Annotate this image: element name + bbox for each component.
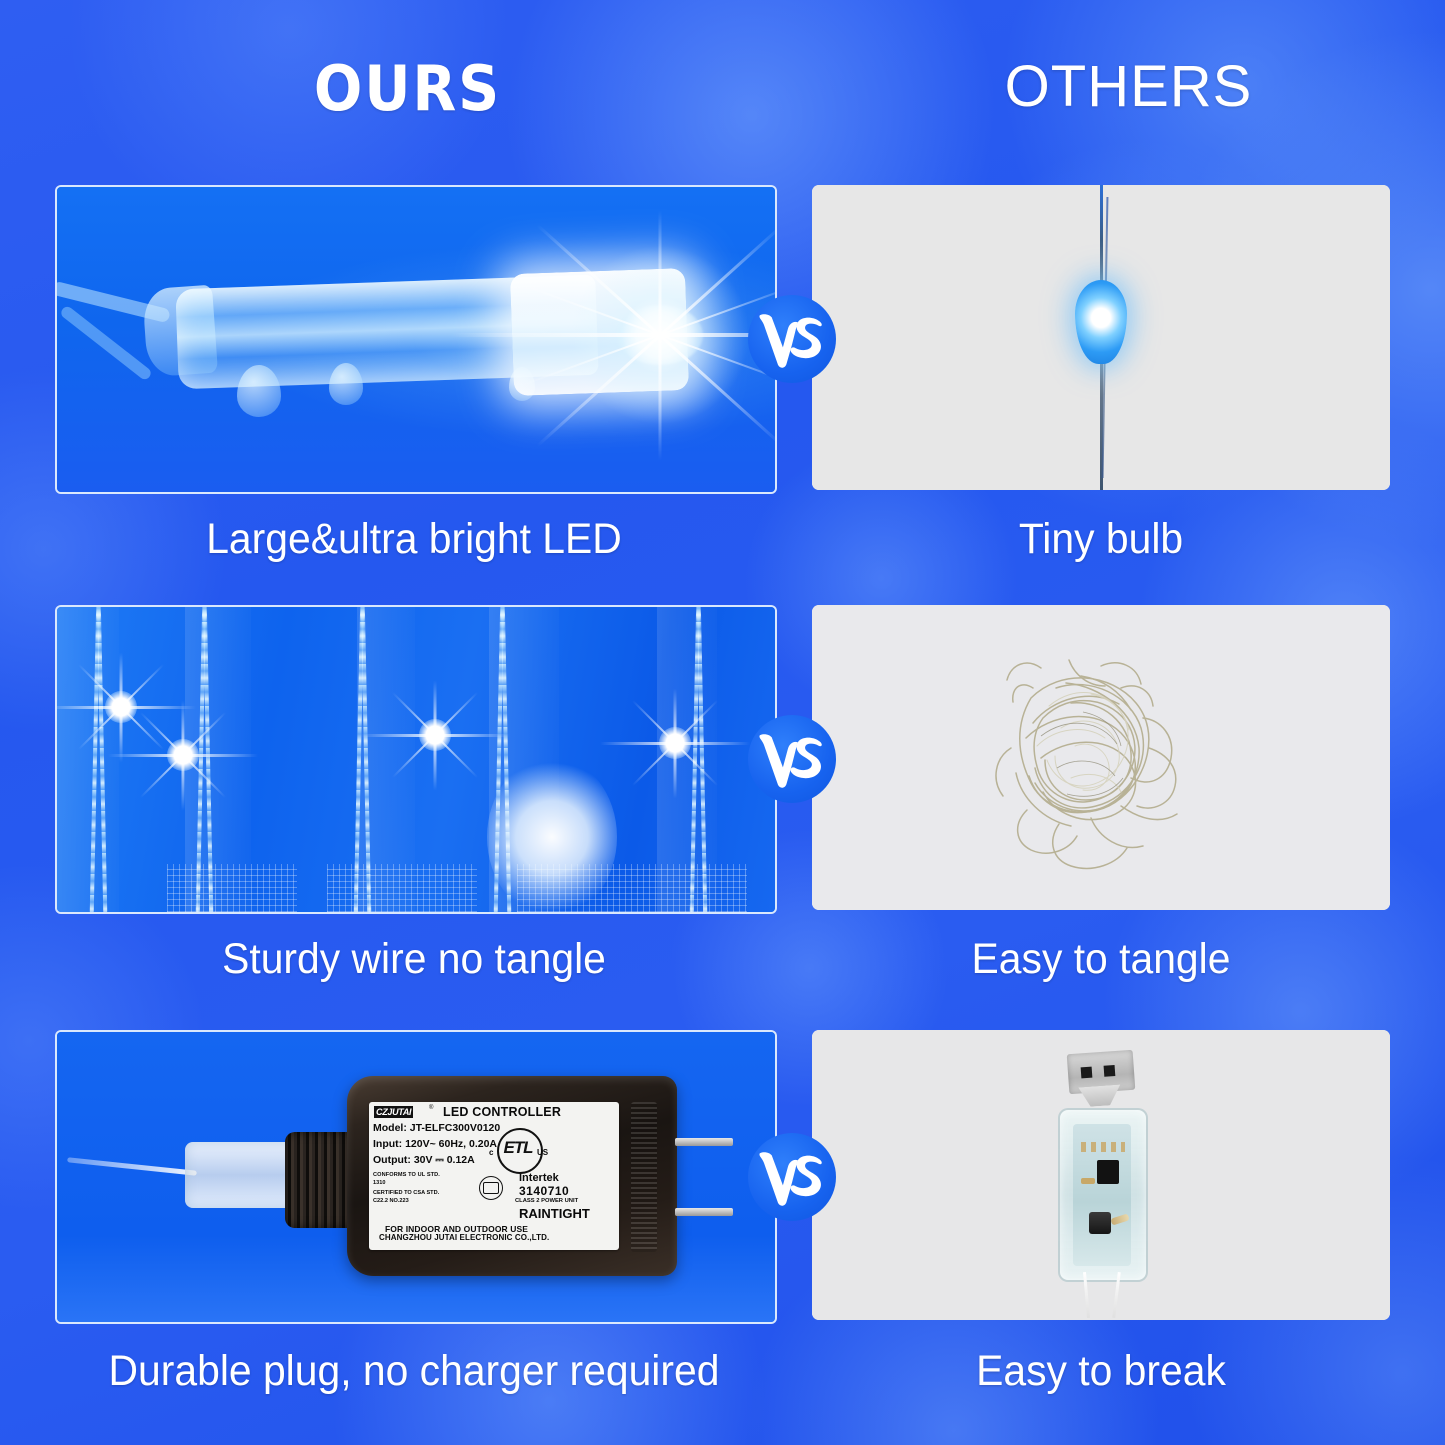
- photo-panel-others-tangle: [812, 605, 1390, 910]
- label-conforms-1: CONFORMS TO UL STD.: [373, 1172, 440, 1178]
- vs-badge-row-3: [748, 1133, 836, 1221]
- tangled-wire-photo: [812, 605, 1390, 910]
- caption-others-2: Easy to tangle: [826, 938, 1375, 981]
- plug-ridges: [631, 1102, 657, 1252]
- etl-text: ETL: [500, 1138, 536, 1158]
- caption-ours-1: Large&ultra bright LED: [21, 518, 808, 561]
- ic-chip: [1097, 1160, 1119, 1184]
- label-certified-2: C22.2 NO.223: [373, 1198, 409, 1204]
- label-class: CLASS 2 POWER UNIT: [515, 1198, 578, 1204]
- photo-panel-others-usb: [812, 1030, 1390, 1320]
- usb-circuit-board: [1073, 1124, 1131, 1266]
- light-strand-1: [93, 605, 107, 913]
- caption-others-3: Easy to break: [826, 1350, 1375, 1393]
- photo-panel-ours-plug: CZJUTAI ® LED CONTROLLER Model: JT-ELFC3…: [55, 1030, 777, 1324]
- vs-icon: [757, 1146, 827, 1208]
- vs-badge-row-1: [748, 295, 836, 383]
- photo-panel-ours-led: [55, 185, 777, 494]
- etl-us-text: US: [537, 1148, 548, 1157]
- etl-c-text: c: [489, 1148, 493, 1157]
- photo-panel-ours-curtain: [55, 605, 777, 914]
- page-title-ours: OURS: [33, 58, 783, 120]
- polarity-symbol-icon: [479, 1176, 503, 1200]
- curtain-mesh-2: [327, 864, 477, 912]
- caption-others-1: Tiny bulb: [826, 518, 1375, 561]
- label-registered: ®: [429, 1105, 433, 1111]
- curtain-string-lights-photo: [57, 607, 775, 912]
- usb-plug-neck: [1078, 1085, 1121, 1108]
- tiny-bulb-glow: [1075, 280, 1127, 364]
- vs-icon: [757, 728, 827, 790]
- label-output: Output: 30V ⎓ 0.12A: [373, 1154, 475, 1167]
- etl-mark-icon: ETL c US: [489, 1126, 545, 1172]
- label-input: Input: 120V~ 60Hz, 0.20A: [373, 1138, 497, 1150]
- broken-usb-controller-photo: [812, 1030, 1390, 1320]
- label-intertek: Intertek: [519, 1172, 559, 1184]
- plug-cord: [67, 1157, 197, 1176]
- label-company: CHANGZHOU JUTAI ELECTRONIC CO.,LTD.: [379, 1233, 549, 1242]
- label-conforms-2: 1310: [373, 1180, 385, 1186]
- water-droplet-2: [329, 363, 363, 405]
- tangled-wire-ball: [971, 628, 1231, 888]
- push-button-switch: [1089, 1212, 1111, 1234]
- label-cert-no: 3140710: [519, 1184, 569, 1198]
- vs-icon: [757, 308, 827, 370]
- photo-panel-others-tiny-bulb: [812, 185, 1390, 490]
- curtain-mesh-1: [167, 864, 297, 912]
- curtain-fold-1: [57, 607, 119, 912]
- plug-prong-1: [675, 1138, 733, 1146]
- bulb-bloom: [487, 757, 617, 914]
- caption-ours-2: Sturdy wire no tangle: [21, 938, 808, 981]
- label-title: LED CONTROLLER: [443, 1105, 561, 1119]
- caption-ours-3: Durable plug, no charger required: [21, 1350, 808, 1393]
- resistor-component: [1081, 1178, 1095, 1184]
- tiny-bulb-photo: [812, 185, 1390, 490]
- vs-badge-row-2: [748, 715, 836, 803]
- plug-prong-2: [675, 1208, 733, 1216]
- coil-component: [1110, 1213, 1129, 1225]
- solder-pads: [1081, 1142, 1125, 1152]
- plug-spec-label: CZJUTAI ® LED CONTROLLER Model: JT-ELFC3…: [369, 1102, 619, 1250]
- label-certified-1: CERTIFIED TO CSA STD.: [373, 1190, 439, 1196]
- label-brand: CZJUTAI: [374, 1106, 413, 1118]
- label-model: Model: JT-ELFC300V0120: [373, 1122, 500, 1134]
- label-raintight: RAINTIGHT: [519, 1206, 590, 1221]
- plug-body: CZJUTAI ® LED CONTROLLER Model: JT-ELFC3…: [347, 1076, 677, 1276]
- led-controller-plug-photo: CZJUTAI ® LED CONTROLLER Model: JT-ELFC3…: [57, 1032, 775, 1322]
- page-title-others: OTHERS: [812, 58, 1445, 116]
- comparison-infographic: OURS OTHERS: [0, 0, 1445, 1445]
- large-led-bulb-photo: [57, 187, 775, 492]
- usb-controller-case: [1058, 1108, 1148, 1282]
